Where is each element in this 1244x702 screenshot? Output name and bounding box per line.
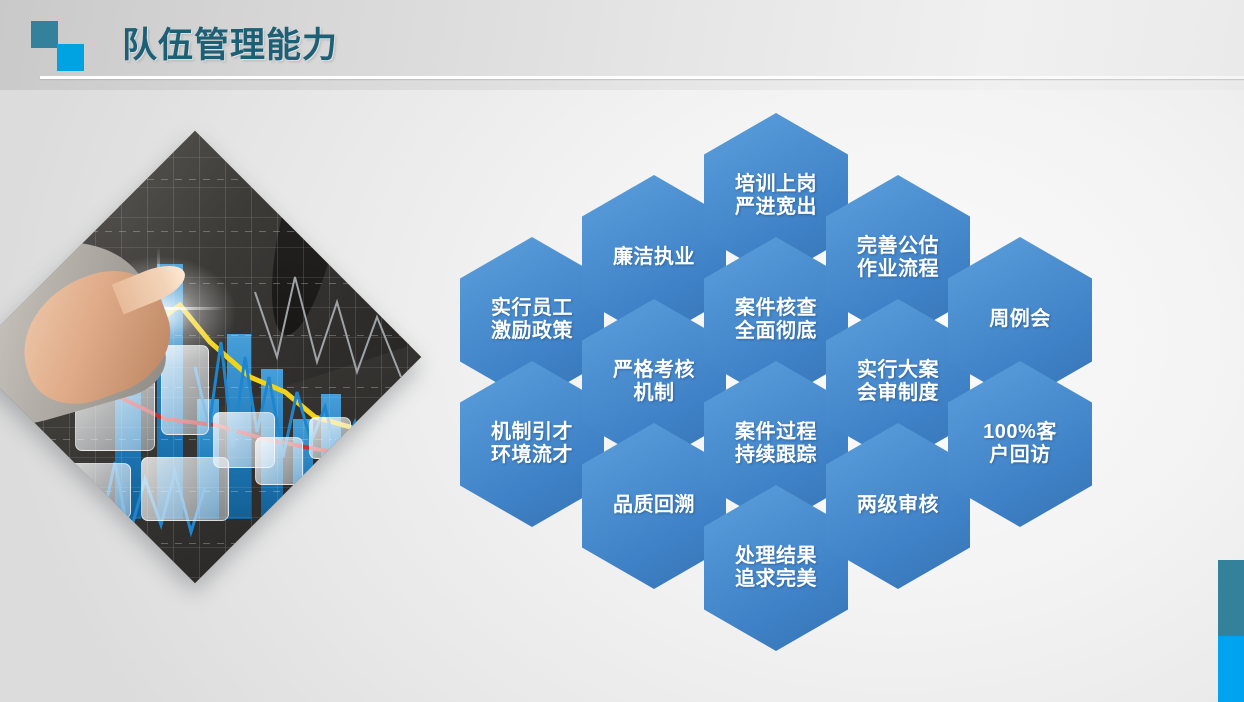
hexagon-label: 实行大案 会审制度	[851, 359, 945, 406]
hexagon-label: 案件过程 持续跟踪	[729, 421, 823, 468]
hexagon-label: 案件核查 全面彻底	[729, 297, 823, 344]
hexagon-label: 两级审核	[851, 494, 945, 517]
slide-canvas: 队伍管理能力	[0, 0, 1244, 702]
hexagon-honeycomb: 实行员工 激励政策机制引才 环境流才廉洁执业严格考核 机制品质回溯培训上岗 严进…	[0, 0, 1244, 702]
accent-bar-blue	[1218, 636, 1244, 702]
hexagon-label: 培训上岗 严进宽出	[729, 173, 823, 220]
accent-bar-teal	[1218, 560, 1244, 636]
hexagon-label: 实行员工 激励政策	[485, 297, 579, 344]
hexagon-label: 完善公估 作业流程	[851, 235, 945, 282]
hexagon-label: 机制引才 环境流才	[485, 421, 579, 468]
hexagon-label: 处理结果 追求完美	[729, 545, 823, 592]
hexagon-label: 严格考核 机制	[607, 359, 701, 406]
hexagon-label: 周例会	[983, 308, 1057, 331]
hexagon-label: 100%客 户回访	[977, 421, 1063, 468]
hexagon-label: 廉洁执业	[607, 246, 701, 269]
hexagon-label: 品质回溯	[607, 494, 701, 517]
